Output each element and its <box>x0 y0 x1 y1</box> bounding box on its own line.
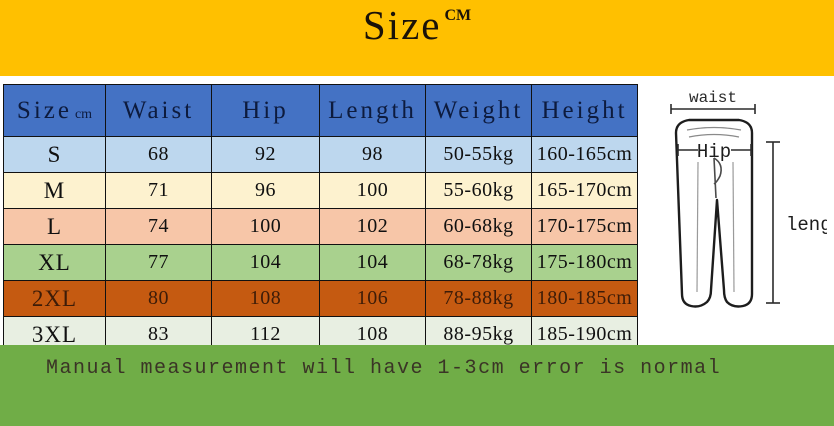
column-header-waist: Waist <box>106 85 212 137</box>
table-row: XL 77 104 104 68-78kg 175-180cm <box>4 245 638 281</box>
title-group: Size CM <box>0 0 834 76</box>
cell-length: 102 <box>320 209 426 245</box>
cell-length: 106 <box>320 281 426 317</box>
table-header-row: Sizecm Waist Hip Length Weight Height <box>4 85 638 137</box>
cell-height: 165-170cm <box>532 173 638 209</box>
cell-hip: 92 <box>212 137 320 173</box>
waist-label: waist <box>689 89 737 107</box>
cell-height: 170-175cm <box>532 209 638 245</box>
cell-hip: 108 <box>212 281 320 317</box>
title-unit-superscript: CM <box>444 8 471 24</box>
table-row: L 74 100 102 60-68kg 170-175cm <box>4 209 638 245</box>
size-table: Sizecm Waist Hip Length Weight Height S … <box>3 84 638 353</box>
table-row: 2XL 80 108 106 78-88kg 180-185cm <box>4 281 638 317</box>
cell-size: 2XL <box>4 281 106 317</box>
cell-length: 98 <box>320 137 426 173</box>
column-header-height: Height <box>532 85 638 137</box>
cell-waist: 80 <box>106 281 212 317</box>
cell-weight: 55-60kg <box>426 173 532 209</box>
page-title: Size <box>363 2 442 48</box>
cell-height: 180-185cm <box>532 281 638 317</box>
column-header-size-unit: cm <box>75 107 92 122</box>
pants-measurement-diagram: waist <box>645 80 827 342</box>
column-header-weight: Weight <box>426 85 532 137</box>
cell-waist: 77 <box>106 245 212 281</box>
cell-waist: 71 <box>106 173 212 209</box>
column-header-hip: Hip <box>212 85 320 137</box>
measurement-disclaimer: Manual measurement will have 1-3cm error… <box>46 355 786 383</box>
column-header-size: Sizecm <box>4 85 106 137</box>
cell-size: XL <box>4 245 106 281</box>
length-dimension-line <box>766 142 780 303</box>
cell-waist: 68 <box>106 137 212 173</box>
hip-label: Hip <box>697 141 731 163</box>
table-row: M 71 96 100 55-60kg 165-170cm <box>4 173 638 209</box>
cell-weight: 68-78kg <box>426 245 532 281</box>
cell-size: M <box>4 173 106 209</box>
length-label: length <box>786 214 827 236</box>
table-row: S 68 92 98 50-55kg 160-165cm <box>4 137 638 173</box>
cell-length: 104 <box>320 245 426 281</box>
cell-waist: 74 <box>106 209 212 245</box>
cell-height: 175-180cm <box>532 245 638 281</box>
cell-weight: 60-68kg <box>426 209 532 245</box>
cell-hip: 104 <box>212 245 320 281</box>
table-header: Sizecm Waist Hip Length Weight Height <box>4 85 638 137</box>
cell-length: 100 <box>320 173 426 209</box>
cell-weight: 78-88kg <box>426 281 532 317</box>
column-header-size-label: Size <box>17 97 72 124</box>
table-body: S 68 92 98 50-55kg 160-165cm M 71 96 100… <box>4 137 638 353</box>
cell-size: L <box>4 209 106 245</box>
cell-weight: 50-55kg <box>426 137 532 173</box>
cell-hip: 96 <box>212 173 320 209</box>
column-header-length: Length <box>320 85 426 137</box>
cell-hip: 100 <box>212 209 320 245</box>
cell-height: 160-165cm <box>532 137 638 173</box>
size-chart-page: Size CM Sizecm Waist Hip Length Weight H… <box>0 0 834 426</box>
cell-size: S <box>4 137 106 173</box>
